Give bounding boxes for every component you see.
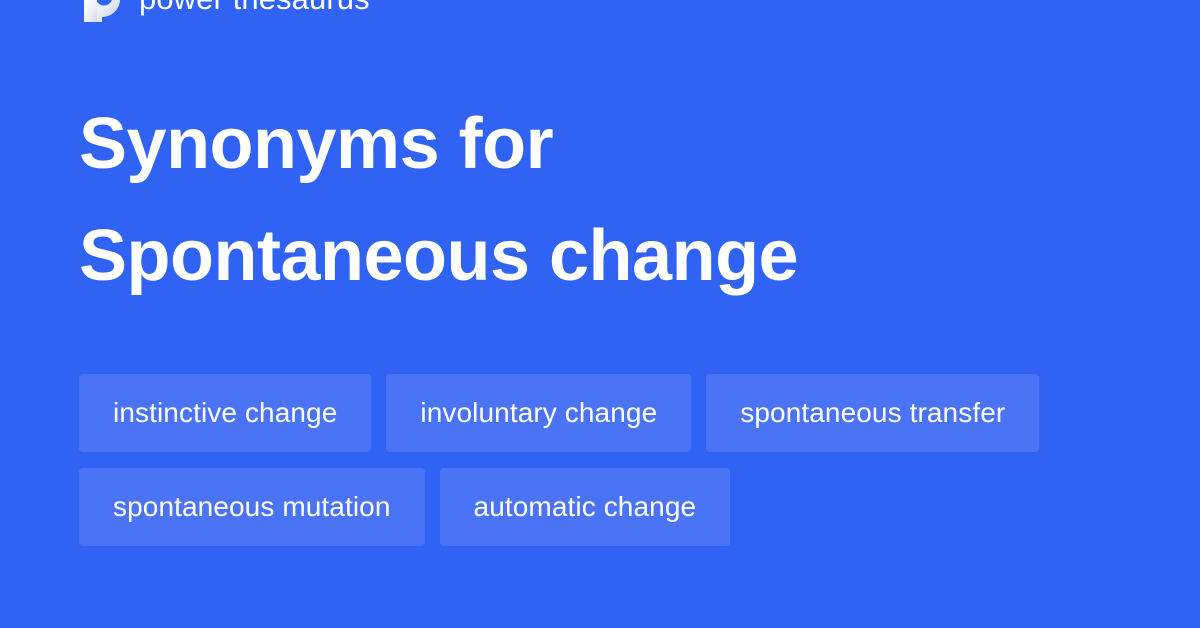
power-thesaurus-p-logo-icon — [79, 0, 125, 22]
synonym-chip[interactable]: automatic change — [440, 468, 731, 546]
page-title: Synonyms for Spontaneous change — [79, 88, 1079, 312]
synonym-chip[interactable]: instinctive change — [79, 374, 371, 452]
synonym-chip[interactable]: spontaneous transfer — [706, 374, 1039, 452]
share-card: power thesaurus Synonyms for Spontaneous… — [0, 0, 1200, 628]
synonym-chip[interactable]: involuntary change — [386, 374, 691, 452]
page-title-line-1: Synonyms for — [79, 88, 1079, 200]
brand-lockup[interactable]: power thesaurus — [79, 0, 370, 22]
synonym-chip[interactable]: spontaneous mutation — [79, 468, 425, 546]
page-title-line-2: Spontaneous change — [79, 200, 1079, 312]
brand-name: power thesaurus — [139, 0, 370, 22]
synonym-chip-list: instinctive change involuntary change sp… — [79, 374, 1139, 546]
